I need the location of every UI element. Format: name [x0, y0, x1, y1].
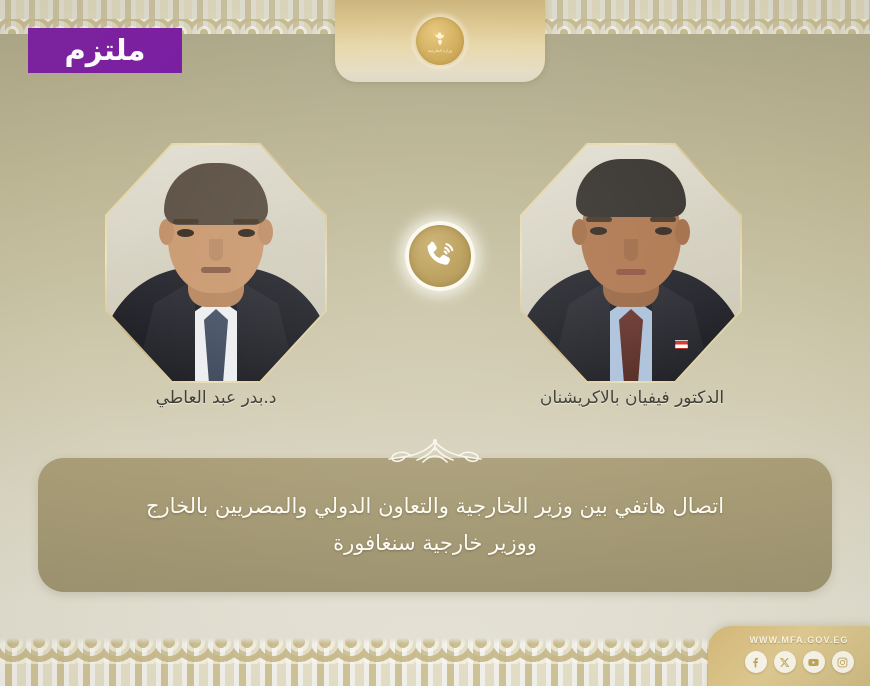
eagle-of-saladin-icon	[432, 31, 448, 48]
phone-call-icon	[405, 221, 475, 291]
nose	[624, 239, 638, 261]
mouth	[616, 269, 646, 275]
caption-box: اتصال هاتفي بين وزير الخارجية والتعاون ا…	[38, 458, 832, 592]
eye-left	[177, 229, 194, 237]
caption-line-2: ووزير خارجية سنغافورة	[333, 531, 537, 555]
emblem-tab: وزارة الخارجية	[335, 0, 545, 82]
person-name-right: الدكتور فيفيان بالاكريشنان	[482, 388, 782, 408]
phone-call-glyph	[422, 238, 458, 274]
portrait-frame-left	[105, 143, 327, 383]
divider-flourish-ornament	[345, 438, 525, 468]
brand-badge: ملتزم	[28, 28, 182, 73]
ear-right	[675, 219, 690, 245]
ear-left	[572, 219, 587, 245]
portrait-vivian-balakrishnan	[522, 145, 740, 381]
website-url[interactable]: WWW.MFA.GOV.EG	[708, 635, 870, 645]
brand-badge-label: ملتزم	[65, 36, 146, 65]
eye-right	[655, 227, 672, 235]
octagon-inner	[107, 145, 325, 381]
octagon-gold-frame	[105, 143, 327, 383]
eyebrow-right	[650, 217, 676, 222]
nose	[209, 239, 223, 261]
octagon-inner	[522, 145, 740, 381]
mouth	[201, 267, 231, 273]
eyebrow-left	[586, 217, 612, 222]
x-twitter-icon[interactable]	[774, 651, 796, 673]
announcement-card: ملتزم وزارة الخارجية	[0, 0, 870, 686]
footer-panel: WWW.MFA.GOV.EG	[708, 626, 870, 686]
eye-right	[238, 229, 255, 237]
eye-left	[590, 227, 607, 235]
instagram-icon[interactable]	[832, 651, 854, 673]
facebook-icon[interactable]	[745, 651, 767, 673]
social-links-row	[708, 651, 870, 673]
caption-text: اتصال هاتفي بين وزير الخارجية والتعاون ا…	[146, 488, 724, 562]
octagon-gold-frame	[520, 143, 742, 383]
portrait-badr-abdelatty	[107, 145, 325, 381]
singapore-flag-pin-icon	[675, 340, 688, 349]
youtube-icon[interactable]	[803, 651, 825, 673]
emblem-inscription: وزارة الخارجية	[417, 48, 463, 53]
eyebrow-left	[173, 219, 199, 224]
person-name-left: د.بدر عبد العاطي	[66, 388, 366, 408]
eyebrow-right	[233, 219, 259, 224]
caption-line-1: اتصال هاتفي بين وزير الخارجية والتعاون ا…	[146, 494, 724, 518]
portrait-frame-right	[520, 143, 742, 383]
egypt-mfa-emblem-icon: وزارة الخارجية	[414, 15, 466, 67]
